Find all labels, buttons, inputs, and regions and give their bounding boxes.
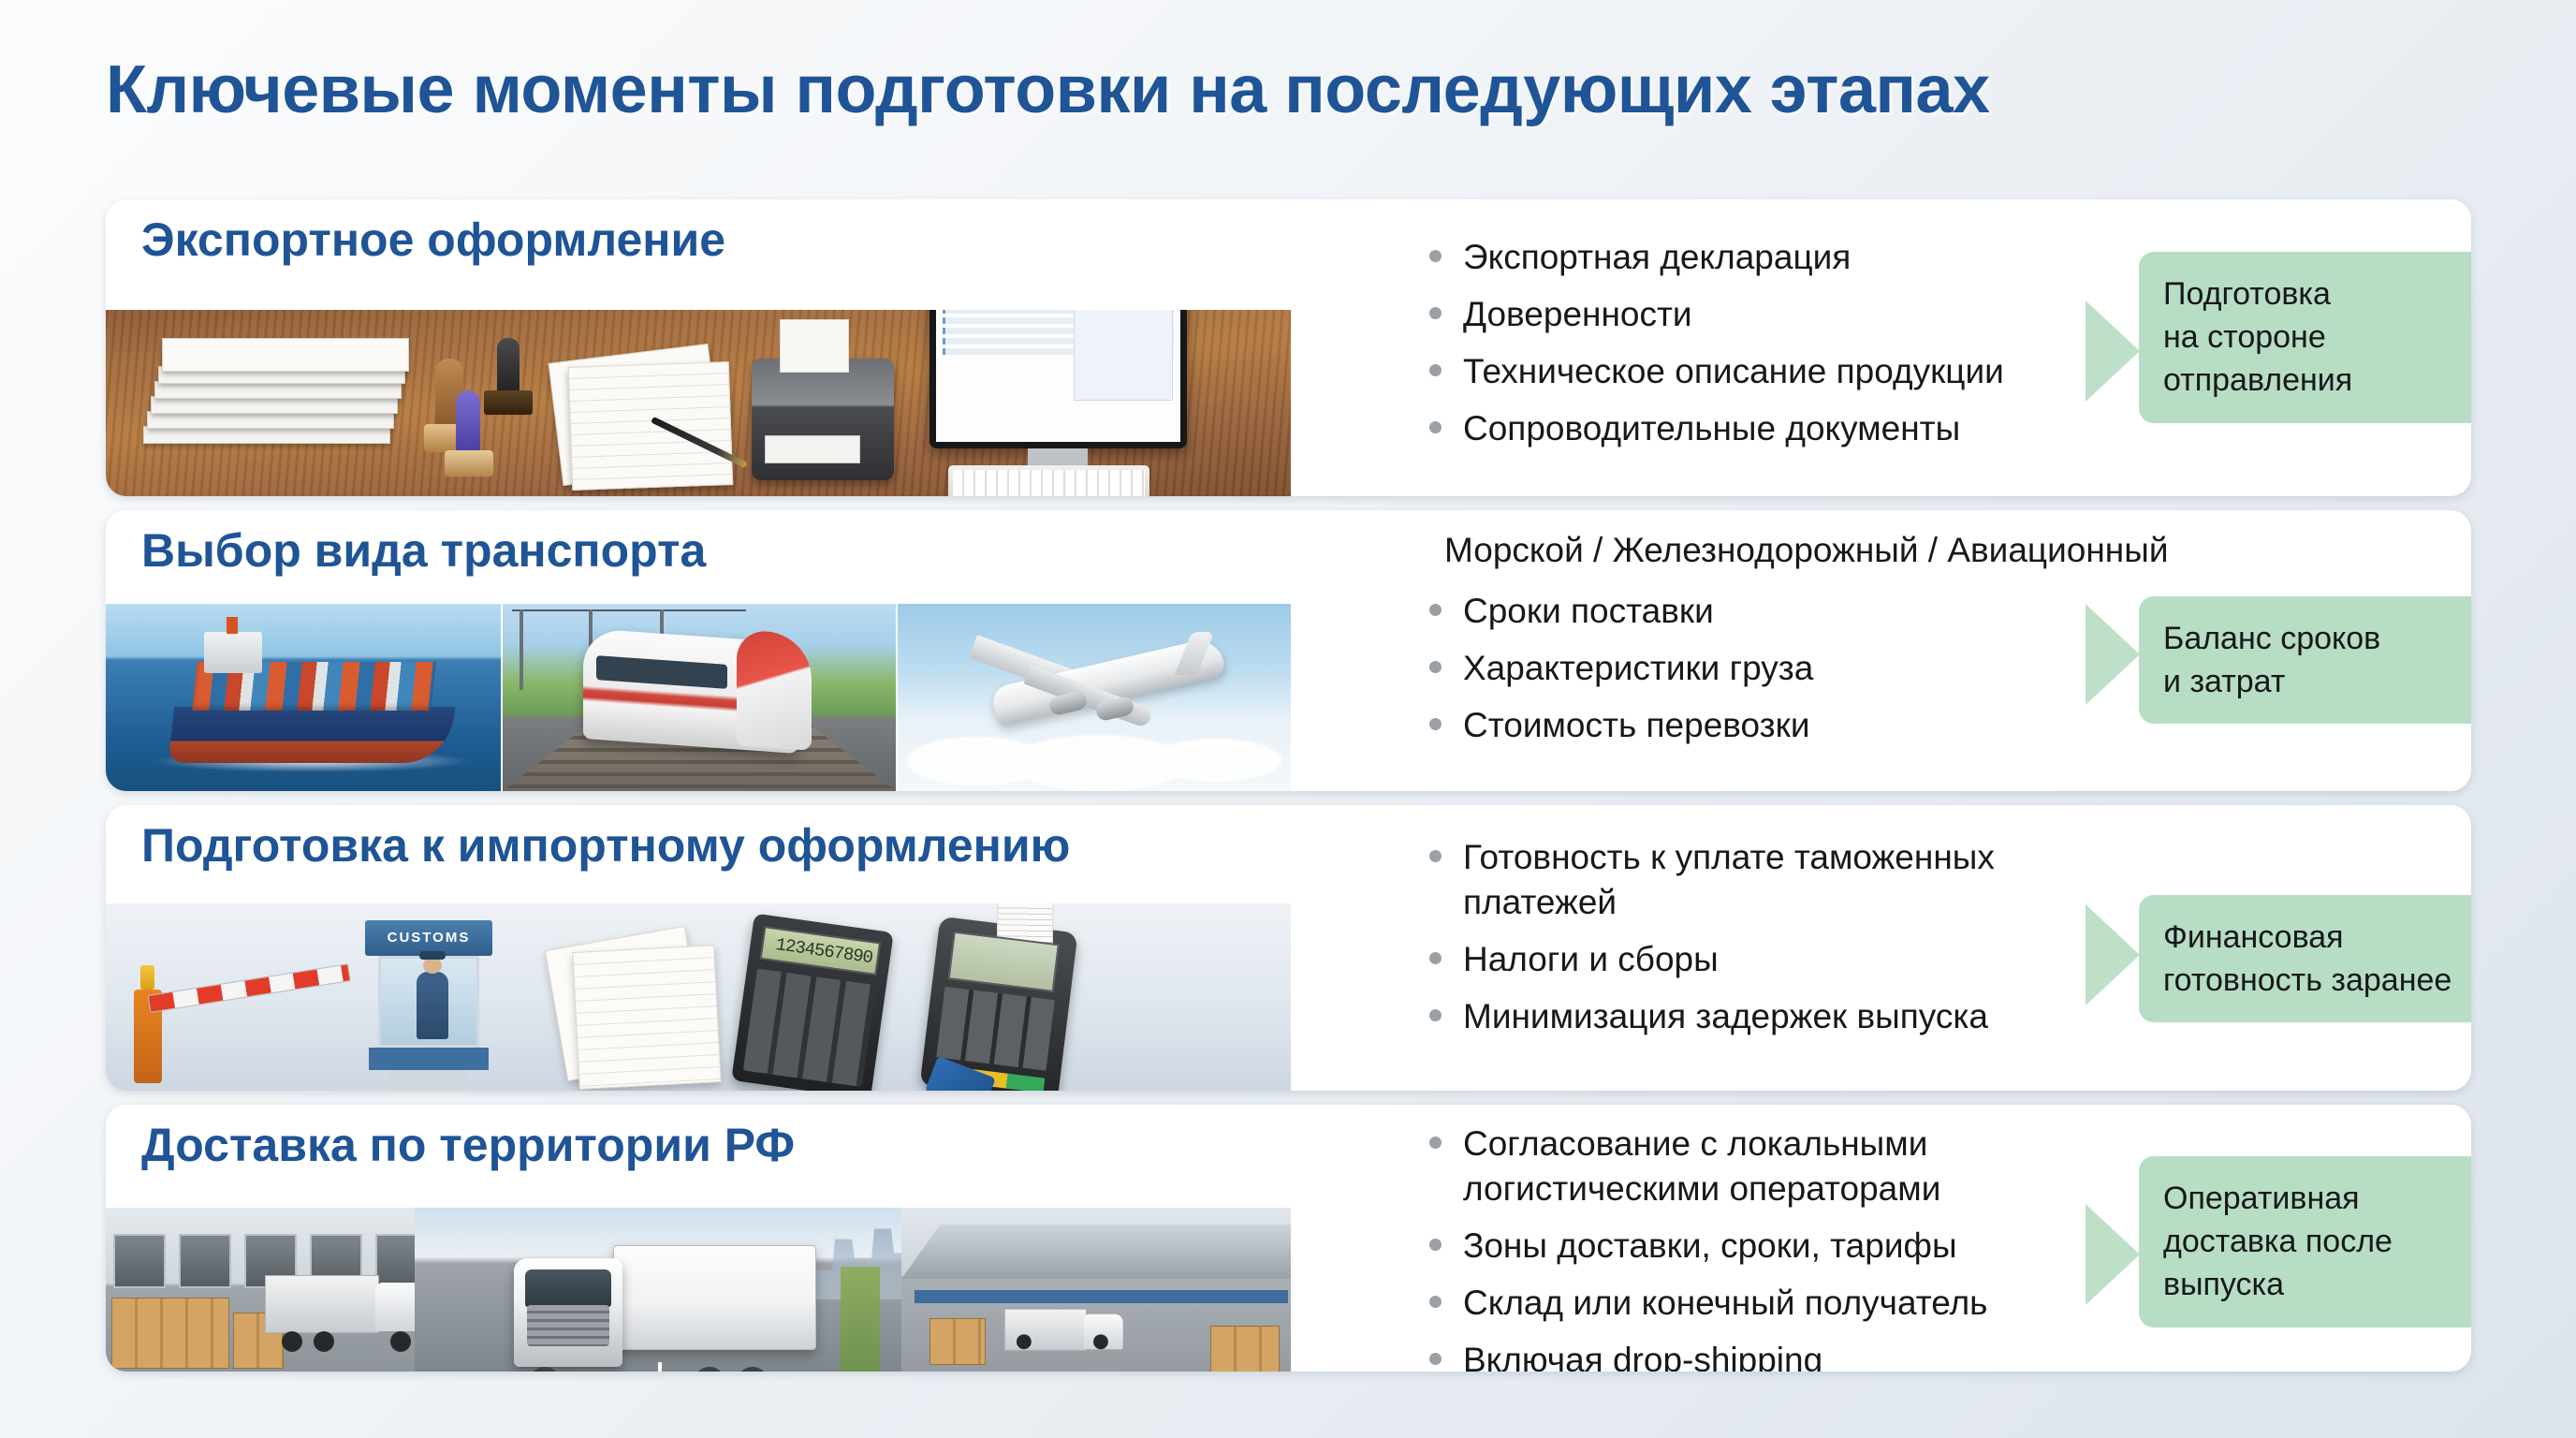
page-title: Ключевые моменты подготовки на последующ… bbox=[106, 51, 2483, 128]
printer-sheet bbox=[780, 319, 849, 373]
card-content: Экспортная декларация Доверенности Техни… bbox=[1323, 199, 2471, 496]
monitor-icon bbox=[929, 310, 1187, 448]
badge-line: Баланс сроков bbox=[2163, 617, 2471, 660]
badge-line: доставка после bbox=[2163, 1220, 2471, 1263]
truck-wheel bbox=[282, 1331, 302, 1352]
warehouse-band bbox=[915, 1290, 1288, 1303]
calculator-display: 1234567890 bbox=[759, 926, 881, 976]
list-item: Согласование с локальными логистическими… bbox=[1424, 1122, 2079, 1211]
status-badge: Оперативная доставка после выпуска bbox=[2139, 1156, 2471, 1328]
calculator-icon: 1234567890 bbox=[731, 913, 894, 1091]
list-item: Экспортная декларация bbox=[1424, 235, 2098, 280]
stamp-black-base bbox=[484, 390, 533, 415]
bullet-list: Экспортная декларация Доверенности Техни… bbox=[1424, 235, 2098, 463]
list-item: Склад или конечный получатель bbox=[1424, 1281, 2079, 1326]
list-item: Налоги и сборы bbox=[1424, 937, 2079, 982]
bullet-list: Готовность к уплате таможенных платежей … bbox=[1424, 835, 2079, 1051]
stamp-purple-base bbox=[445, 450, 493, 477]
customs-officer-icon bbox=[417, 972, 448, 1039]
badge-line: Подготовка bbox=[2163, 272, 2471, 315]
truck-wheel bbox=[314, 1331, 334, 1352]
badge-line: на стороне bbox=[2163, 315, 2471, 359]
cargo-boxes-icon bbox=[1210, 1326, 1280, 1372]
booth-glass bbox=[378, 956, 479, 1048]
cargo-boxes-icon bbox=[929, 1318, 986, 1365]
badge-line: Оперативная bbox=[2163, 1177, 2471, 1220]
badge-line: выпуска bbox=[2163, 1263, 2471, 1306]
moving-truck-icon bbox=[508, 1225, 817, 1372]
train-nose bbox=[737, 629, 812, 751]
keyboard-icon bbox=[948, 465, 1149, 496]
arrow-right-icon bbox=[2086, 301, 2140, 402]
list-item: Техническое описание продукции bbox=[1424, 349, 2098, 394]
list-item: Стоимость перевозки bbox=[1424, 703, 2098, 748]
badge-line: Финансовая bbox=[2163, 916, 2471, 959]
list-item: Доверенности bbox=[1424, 292, 2098, 337]
list-item: Сроки поставки bbox=[1424, 589, 2098, 634]
card-content: Готовность к уплате таможенных платежей … bbox=[1323, 805, 2471, 1091]
truck-wheel bbox=[529, 1367, 561, 1372]
list-item: Включая drop-shipping bbox=[1424, 1338, 2079, 1372]
airplane-icon bbox=[963, 630, 1235, 724]
card-heading: Подготовка к импортному оформлению bbox=[141, 818, 1070, 873]
cargo-boxes-icon bbox=[111, 1298, 229, 1369]
median-grass bbox=[841, 1267, 880, 1372]
arrow-right-icon bbox=[2086, 604, 2140, 705]
pos-keypad bbox=[936, 987, 1054, 1071]
list-item: Минимизация задержек выпуска bbox=[1424, 994, 2079, 1039]
parked-truck-icon bbox=[265, 1275, 433, 1344]
card-heading: Доставка по территории РФ bbox=[141, 1118, 795, 1172]
list-item: Сопроводительные документы bbox=[1424, 406, 2098, 451]
document-stack-icon bbox=[143, 336, 415, 477]
badge-line: готовность заранее bbox=[2163, 959, 2471, 1002]
card-illustration-transport-modes bbox=[106, 604, 1291, 791]
arrow-right-icon bbox=[2086, 904, 2140, 1005]
card-export-clearance: Экспортное оформление bbox=[106, 199, 2471, 496]
card-content: Морской / Железнодорожный / Авиационный … bbox=[1323, 510, 2471, 791]
ship-photo bbox=[106, 604, 501, 791]
card-illustration-export-desk bbox=[106, 310, 1291, 496]
transport-modes-line: Морской / Железнодорожный / Авиационный bbox=[1444, 531, 2169, 570]
truck-wheel bbox=[390, 1331, 411, 1352]
truck-cab bbox=[514, 1258, 622, 1367]
truck-wheel bbox=[1017, 1334, 1032, 1349]
status-badge: Подготовка на стороне отправления bbox=[2139, 252, 2471, 423]
card-transport-mode: Выбор вида транспорта bbox=[106, 510, 2471, 791]
card-heading: Выбор вида транспорта bbox=[141, 523, 706, 578]
truck-grille bbox=[527, 1305, 609, 1346]
customs-forms-icon bbox=[555, 937, 733, 1087]
badge-line: отправления bbox=[2163, 359, 2471, 402]
bullet-list: Согласование с локальными логистическими… bbox=[1424, 1122, 2079, 1372]
truck-wheel bbox=[694, 1367, 725, 1372]
booth-base bbox=[369, 1048, 489, 1070]
list-item: Зоны доставки, сроки, тарифы bbox=[1424, 1224, 2079, 1269]
printer-output bbox=[765, 435, 860, 463]
ship-bridge bbox=[204, 632, 262, 673]
truck-wheel bbox=[737, 1367, 768, 1372]
stamp-black-icon bbox=[497, 338, 520, 392]
warehouse-roof bbox=[901, 1225, 1291, 1279]
list-item: Готовность к уплате таможенных платежей bbox=[1424, 835, 2079, 925]
status-badge: Баланс сроков и затрат bbox=[2139, 596, 2471, 724]
booth-pedestal bbox=[389, 1070, 468, 1091]
parked-truck-icon bbox=[1004, 1309, 1085, 1343]
cloud-shape bbox=[1150, 739, 1281, 782]
airplane-photo bbox=[898, 604, 1291, 791]
truck-trailer bbox=[613, 1245, 816, 1350]
card-illustration-customs: CUSTOMS 1234567890 bbox=[106, 903, 1291, 1091]
card-illustration-delivery bbox=[106, 1208, 1291, 1372]
card-heading: Экспортное оформление bbox=[141, 213, 725, 267]
form-paper-icon bbox=[568, 361, 734, 491]
calculator-keys bbox=[743, 968, 876, 1087]
printer-icon bbox=[752, 359, 894, 480]
monitor-screen bbox=[936, 310, 1180, 442]
arrow-right-icon bbox=[2086, 1204, 2140, 1305]
loading-dock bbox=[113, 1234, 166, 1288]
truck-wheel bbox=[1093, 1334, 1108, 1349]
stamp-purple-icon bbox=[456, 390, 480, 452]
customs-booth-icon: CUSTOMS bbox=[373, 920, 485, 1084]
slide-root: Ключевые моменты подготовки на последующ… bbox=[0, 0, 2576, 1438]
pos-terminal-icon bbox=[919, 917, 1077, 1091]
barrier-arm-icon bbox=[148, 963, 351, 1013]
container-ship-icon bbox=[168, 707, 455, 763]
list-item: Характеристики груза bbox=[1424, 646, 2098, 691]
truck-windshield bbox=[525, 1269, 611, 1307]
screen-panel bbox=[1074, 310, 1173, 401]
loading-dock bbox=[179, 1234, 231, 1288]
card-domestic-delivery: Доставка по территории РФ bbox=[106, 1105, 2471, 1372]
badge-line: и затрат bbox=[2163, 660, 2471, 703]
catenary-pole bbox=[520, 609, 523, 690]
card-import-clearance: Подготовка к импортному оформлению CUSTO… bbox=[106, 805, 2471, 1091]
bullet-list: Сроки поставки Характеристики груза Стои… bbox=[1424, 589, 2098, 760]
card-content: Согласование с локальными логистическими… bbox=[1323, 1105, 2471, 1372]
truck-trailer bbox=[265, 1275, 379, 1333]
train-photo bbox=[503, 604, 896, 791]
status-badge: Финансовая готовность заранее bbox=[2139, 895, 2471, 1022]
